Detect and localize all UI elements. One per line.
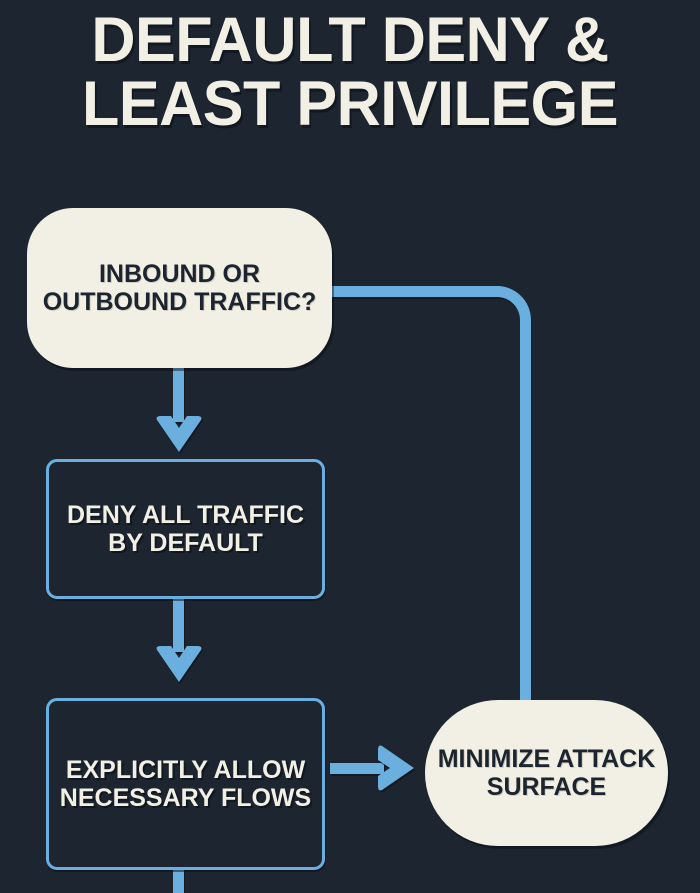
node-label: INBOUND OR OUTBOUND TRAFFIC? xyxy=(27,260,332,317)
connector-allow-to-next xyxy=(173,866,184,893)
arrowhead-down-deny-to-allow xyxy=(153,644,205,684)
node-label: EXPLICITLY ALLOW NECESSARY FLOWS xyxy=(49,756,322,813)
page-title: DEFAULT DENY & LEAST PRIVILEGE xyxy=(11,8,690,137)
arrowhead-down-decision-to-deny xyxy=(153,414,205,454)
page-title-line-1: DEFAULT DENY & xyxy=(11,8,690,72)
node-inbound-or-outbound-traffic[interactable]: INBOUND OR OUTBOUND TRAFFIC? xyxy=(27,208,332,368)
node-label: DENY ALL TRAFFIC BY DEFAULT xyxy=(49,501,322,558)
node-minimize-attack-surface[interactable]: MINIMIZE ATTACK SURFACE xyxy=(425,700,668,846)
arrowhead-right-allow-to-minimize xyxy=(376,742,418,794)
connector-decision-to-minimize xyxy=(332,286,531,706)
infographic-canvas: DEFAULT DENY & LEAST PRIVILEGE INBOUND O… xyxy=(0,0,700,893)
node-explicitly-allow-necessary-flows[interactable]: EXPLICITLY ALLOW NECESSARY FLOWS xyxy=(46,698,325,870)
page-title-line-2: LEAST PRIVILEGE xyxy=(11,72,690,136)
node-label: MINIMIZE ATTACK SURFACE xyxy=(425,745,668,802)
node-deny-all-traffic-by-default[interactable]: DENY ALL TRAFFIC BY DEFAULT xyxy=(46,459,325,599)
